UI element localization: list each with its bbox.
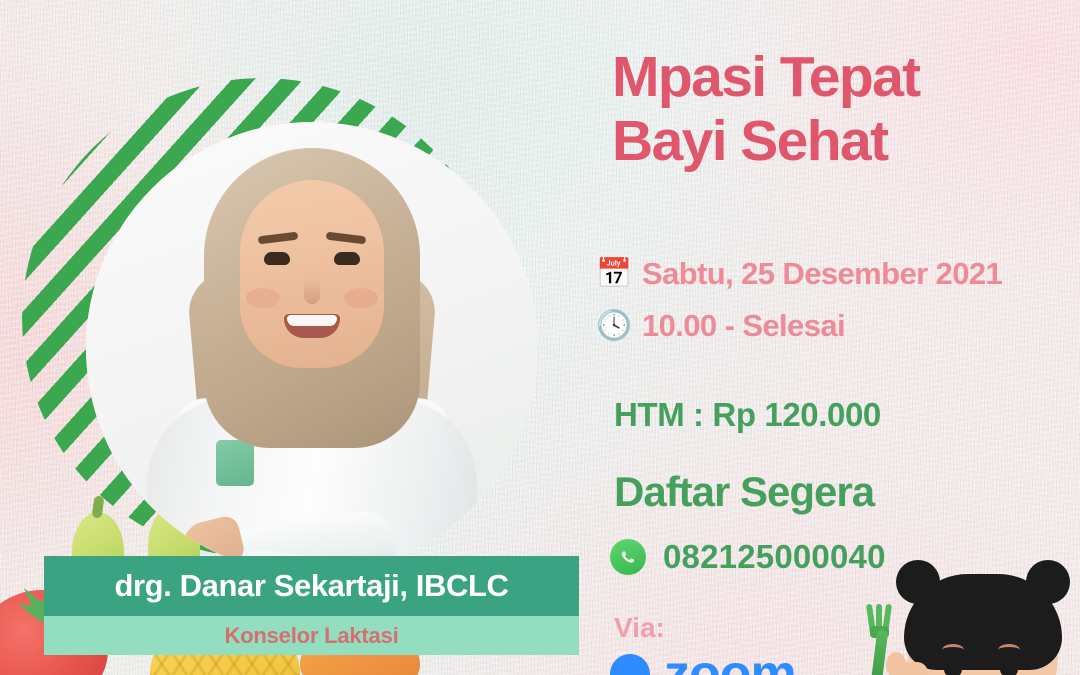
event-date: Sabtu, 25 Desember 2021 — [642, 256, 1002, 292]
via-label: Via: — [614, 612, 665, 644]
zoom-wordmark: zoom — [664, 648, 796, 675]
baby-hand — [894, 662, 928, 675]
zoom-platform-row: zoom — [610, 648, 796, 675]
speaker-name: drg. Danar Sekartaji, IBCLC — [114, 568, 508, 604]
whatsapp-number[interactable]: 082125000040 — [663, 538, 886, 576]
teeth — [287, 315, 337, 326]
baby-illustration — [888, 556, 1080, 675]
cheek-left — [246, 288, 280, 308]
register-cta[interactable]: Daftar Segera — [614, 468, 874, 516]
baby-hair-bun-right — [1026, 560, 1070, 604]
title-line-2: Bayi Sehat — [612, 110, 1072, 174]
eye-right — [334, 252, 360, 265]
whatsapp-icon — [610, 539, 646, 575]
speaker-photo — [86, 122, 538, 574]
speaker-role: Konselor Laktasi — [224, 623, 398, 649]
baby-eye-right — [1000, 660, 1018, 675]
speaker-name-banner: drg. Danar Sekartaji, IBCLC — [44, 556, 579, 616]
baby-hair-bun-left — [896, 560, 940, 604]
ticket-price: HTM : Rp 120.000 — [614, 396, 881, 434]
speaker-role-banner: Konselor Laktasi — [44, 616, 579, 655]
zoom-icon — [610, 654, 650, 675]
mouth — [284, 314, 340, 338]
cheek-right — [344, 288, 378, 308]
baby-eye-left — [944, 660, 962, 675]
baby-eyebrow-right — [998, 644, 1020, 656]
baby-eyebrow-left — [942, 644, 964, 656]
nose — [304, 278, 320, 304]
title-line-1: Mpasi Tepat — [612, 46, 1072, 110]
calendar-icon: 📅 — [596, 260, 628, 289]
event-time-row: 🕓 10.00 - Selesai — [596, 308, 845, 344]
whatsapp-contact-row[interactable]: 082125000040 — [610, 538, 886, 576]
speaker-photo-image — [86, 122, 538, 574]
clock-icon: 🕓 — [596, 312, 628, 341]
face — [240, 180, 384, 368]
page-title: Mpasi Tepat Bayi Sehat — [612, 46, 1072, 174]
coat-badge-icon — [216, 440, 254, 486]
promotional-flyer: drg. Danar Sekartaji, IBCLC Konselor Lak… — [0, 0, 1080, 675]
event-time: 10.00 - Selesai — [642, 308, 845, 344]
event-date-row: 📅 Sabtu, 25 Desember 2021 — [596, 256, 1002, 292]
eye-left — [264, 252, 290, 265]
